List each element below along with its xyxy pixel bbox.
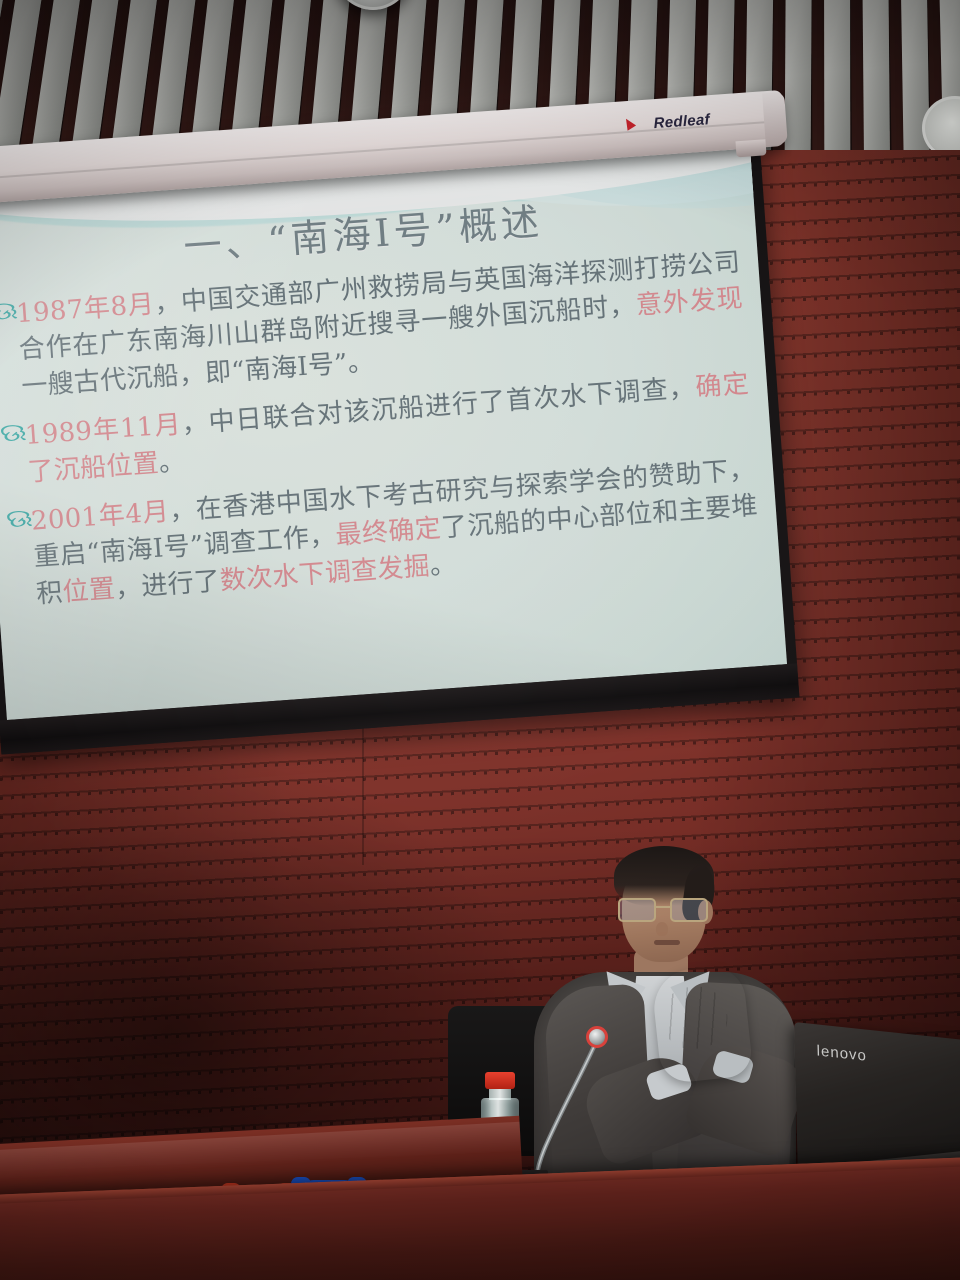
projection-screen: 一、“南海Ⅰ号”概述 ଊ1987年8月，中国交通部广州救捞局与英国海洋探测打捞公… (0, 119, 799, 755)
slide-bullet-lead: 1987年8月 (15, 289, 155, 329)
slide-text-highlight: 意外发现 (635, 284, 744, 322)
bullet-marker-icon: ଊ (5, 504, 34, 535)
housing-bracket (735, 139, 766, 157)
screen-brand-label: Redleaf (653, 111, 710, 132)
eyeglass-lens-right (670, 898, 708, 922)
eyeglass-bridge (656, 906, 672, 908)
mouth (654, 940, 680, 945)
slide-content: 一、“南海Ⅰ号”概述 ଊ1987年8月，中国交通部广州救捞局与英国海洋探测打捞公… (0, 126, 787, 721)
slide-bullet-lead: 1989年11月 (24, 410, 183, 451)
eyeglasses-icon (616, 898, 718, 924)
slide-text-highlight: 最终确定 (335, 514, 443, 551)
bottle-neck (489, 1088, 511, 1100)
bullet-marker-icon: ଊ (0, 418, 28, 449)
photo-scene: 一、“南海Ⅰ号”概述 ଊ1987年8月，中国交通部广州救捞局与英国海洋探测打捞公… (0, 0, 960, 1280)
slide-text-highlight: 数次水下调查发掘 (219, 551, 431, 596)
slide-text-highlight: 位置 (62, 574, 117, 608)
laptop-brand-label: lenovo (816, 1042, 867, 1064)
clasped-hands (650, 963, 753, 1084)
slide-text-segment: ，进行了 (114, 566, 221, 603)
eyeglass-lens-left (618, 898, 656, 922)
bottle-cap (485, 1072, 515, 1089)
slide-text-segment: 。 (158, 446, 186, 478)
bullet-marker-icon: ଊ (0, 296, 19, 327)
slide-bullet-list: ଊ1987年8月，中国交通部广州救捞局与英国海洋探测打捞公司合作在广东南海川山群… (0, 244, 762, 614)
projection-screen-surface: 一、“南海Ⅰ号”概述 ଊ1987年8月，中国交通部广州救捞局与英国海洋探测打捞公… (0, 126, 787, 721)
microphone-capsule (586, 1026, 608, 1048)
slide-bullet-lead: 2001年4月 (30, 497, 170, 537)
housing-end-cap (762, 92, 788, 145)
fingers (658, 983, 730, 1052)
nose (656, 922, 668, 936)
red-leaf-icon (622, 116, 636, 131)
slide-text-segment: 。 (429, 549, 457, 581)
